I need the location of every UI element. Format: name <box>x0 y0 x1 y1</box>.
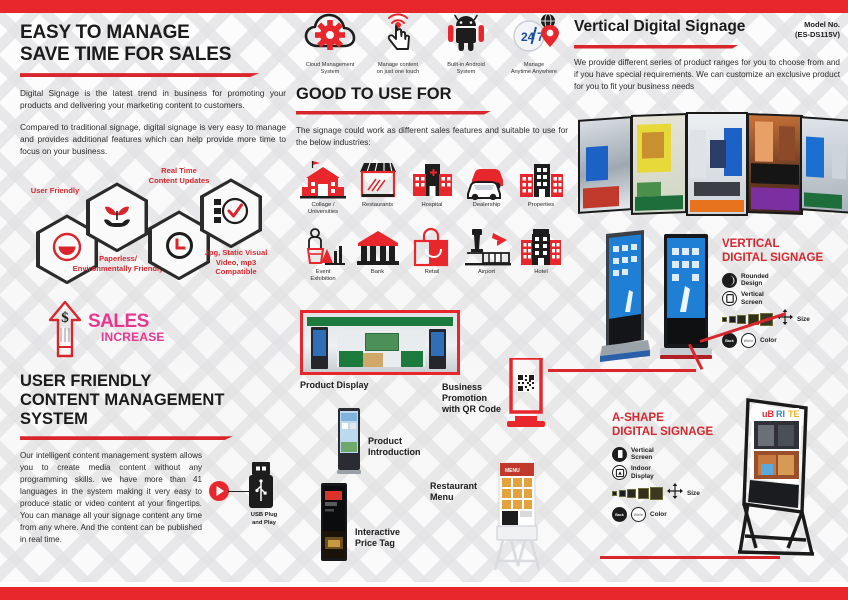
hexagon-feature-cluster: User Friendly <box>20 166 286 294</box>
feature-anytime-anywhere: 24 7 Manage Anytime Anywhere <box>504 12 564 77</box>
feature-android: Built-in Android System <box>436 12 496 77</box>
page-title: EASY TO MANAGE SAVE TIME FOR SALES <box>20 22 286 66</box>
ashape-spec-label-color: Color <box>650 511 667 519</box>
intro-paragraph-1: Digital Signage is the latest trend in b… <box>20 87 286 112</box>
product-display-photo <box>300 310 460 375</box>
usb-label: USB Plug and Play <box>242 512 286 527</box>
vertical-screen-icon <box>722 291 737 306</box>
vertical-kiosk-front <box>660 234 712 362</box>
industry-label-retail: Retail <box>407 269 457 276</box>
car-dealership-icon <box>462 158 512 200</box>
ashape-spec-label-size: Size <box>687 490 700 498</box>
industry-label-dealership: Dealership <box>462 202 512 209</box>
school-icon <box>298 158 348 200</box>
interactive-price-tag-kiosk <box>320 483 348 563</box>
caption-product-introduction: Product Introduction <box>368 436 421 458</box>
feature-label-cloud: Cloud Management System <box>300 62 360 77</box>
cms-paragraph: Our intelligent content management syste… <box>20 450 202 546</box>
industry-restaurants: Restaurants <box>353 158 403 216</box>
industry-bank: Bank <box>353 225 403 283</box>
vertical-signage-spec: VERTICAL DIGITAL SIGNAGE Rounded Design … <box>722 238 842 348</box>
feature-label-touch: Manage content on just one touch <box>368 62 428 77</box>
industry-college: Collage / Universities <box>298 158 348 216</box>
ashape-spec-title-line-2: DIGITAL SIGNAGE <box>612 426 732 440</box>
ashape-spec-size: Size <box>612 483 732 504</box>
vertical-spec-label-color: Color <box>760 337 777 345</box>
svg-text:MENU: MENU <box>505 468 520 474</box>
resize-arrows-icon <box>667 483 683 504</box>
cms-title-underline <box>20 436 233 440</box>
industry-label-event: Event Exhibition <box>298 269 348 283</box>
retail-display-gallery <box>578 112 840 216</box>
bank-icon <box>353 225 403 267</box>
rounded-design-icon <box>722 273 737 288</box>
feature-label-anytime: Manage Anytime Anywhere <box>504 62 564 77</box>
color-chip-white: White <box>741 333 756 348</box>
svg-text:$: $ <box>61 310 69 326</box>
vertical-signage-paragraph: We provide different series of product r… <box>574 57 840 93</box>
increase-word: INCREASE <box>88 331 165 344</box>
industry-label-restaurants: Restaurants <box>353 202 403 209</box>
caption-interactive-price-tag: Interactive Price Tag <box>355 527 400 549</box>
svg-text:RI: RI <box>776 409 785 419</box>
sales-increase-text: SALES INCREASE <box>88 312 165 344</box>
smile-icon <box>52 232 82 267</box>
intro-paragraph-2: Compared to traditional signage, digital… <box>20 121 286 158</box>
svg-text:TE: TE <box>788 409 800 419</box>
ashape-spec-color: Back White Color <box>612 507 732 522</box>
leaf-hands-icon <box>101 201 133 234</box>
bottom-red-bar <box>0 587 848 600</box>
feature-label-android: Built-in Android System <box>436 62 496 77</box>
industry-label-bank: Bank <box>353 269 403 276</box>
industry-properties: Properties <box>516 158 566 216</box>
ashape-spec-title-line-1: A-SHAPE <box>612 412 732 426</box>
vertical-spec-title-line-1: VERTICAL <box>722 238 842 252</box>
industry-dealership: Dealership <box>462 158 512 216</box>
industry-hospital: Hospital <box>407 158 457 216</box>
hex-label-user-friendly: User Friendly <box>26 186 84 195</box>
247-globe-pin-icon: 24 7 <box>504 12 564 59</box>
size-chips-icon <box>612 487 663 500</box>
vertical-signage-underline <box>574 45 739 49</box>
color-chip-black: Back <box>612 507 627 522</box>
industry-label-properties: Properties <box>516 202 566 209</box>
caption-product-display: Product Display <box>300 380 369 391</box>
vertical-spec-rounded-design: Rounded Design <box>722 273 842 288</box>
industry-label-college: Collage / Universities <box>298 202 348 216</box>
industry-retail: Retail <box>407 225 457 283</box>
feature-icon-row: Cloud Management System Manage content o… <box>296 12 568 77</box>
caption-business-promotion: Business Promotion with QR Code <box>442 382 501 414</box>
caption-restaurant-menu: Restaurant Menu <box>430 481 477 503</box>
cloud-gear-icon <box>300 12 360 59</box>
good-to-use-paragraph: The signage could work as different sale… <box>296 125 568 149</box>
restaurant-menu-aframe: MENU <box>485 462 551 572</box>
model-no-value: (ES-DS115V) <box>795 30 840 40</box>
clock-icon <box>166 232 193 259</box>
ashape-spec-label-vertical: Vertical Screen <box>631 447 654 462</box>
industry-label-hotel: Hotel <box>516 269 566 276</box>
industries-row-1: Collage / Universities Restaurants <box>296 158 568 216</box>
feature-one-touch: Manage content on just one touch <box>368 12 428 77</box>
sales-word: SALES <box>88 312 165 331</box>
hex-paperless <box>86 182 148 252</box>
center-column: Cloud Management System Manage content o… <box>296 12 568 284</box>
svg-text:uB: uB <box>762 409 774 419</box>
color-chip-white: White <box>631 507 646 522</box>
vertical-screen-icon <box>612 447 627 462</box>
cms-title-line-2: CONTENT MANAGEMENT <box>20 391 224 409</box>
vertical-signage-title: Vertical Digital Signage <box>574 18 745 35</box>
android-icon <box>436 12 496 59</box>
connector-line-left <box>548 369 696 372</box>
hospital-icon <box>407 158 457 200</box>
left-column: EASY TO MANAGE SAVE TIME FOR SALES Digit… <box>20 22 286 555</box>
ashape-product-photo: uB RI TE <box>718 388 830 556</box>
industry-airport: Airport <box>462 225 512 283</box>
right-column: Vertical Digital Signage Model No. (ES-D… <box>574 18 840 102</box>
industry-label-airport: Airport <box>462 269 512 276</box>
dollar-arrow-up-icon: $ <box>48 300 82 362</box>
airport-icon <box>462 225 512 267</box>
vertical-spec-label-rounded: Rounded Design <box>741 273 769 288</box>
play-button-icon <box>208 480 230 507</box>
vertical-spec-title-line-2: DIGITAL SIGNAGE <box>722 252 842 266</box>
industry-label-hospital: Hospital <box>407 202 457 209</box>
ashape-signage-spec: A-SHAPE DIGITAL SIGNAGE Vertical Screen … <box>612 412 732 522</box>
cms-title-line-1: USER FRIENDLY <box>20 372 151 390</box>
vertical-spec-label-size: Size <box>797 316 810 324</box>
ashape-spec-label-indoor: Indoor Display <box>631 465 654 480</box>
hex-formats <box>200 178 262 248</box>
industry-event: Event Exhibition <box>298 225 348 283</box>
vertical-spec-color: Back White Color <box>722 333 842 348</box>
industry-hotel: Hotel <box>516 225 566 283</box>
ashape-spec-indoor-display: Indoor Display <box>612 465 732 480</box>
vertical-kiosk-angled <box>596 228 652 363</box>
check-media-icon <box>213 197 249 230</box>
usb-icon <box>248 462 274 515</box>
restaurant-awning-icon <box>353 158 403 200</box>
usb-media-group: USB Plug and Play <box>208 450 286 555</box>
ashape-spec-vertical-screen: Vertical Screen <box>612 447 732 462</box>
feature-cloud-management: Cloud Management System <box>300 12 360 77</box>
vertical-spec-label-vertical: Vertical Screen <box>741 291 764 306</box>
touch-hand-icon <box>368 12 428 59</box>
brochure-page: EASY TO MANAGE SAVE TIME FOR SALES Digit… <box>0 0 848 600</box>
sales-increase-block: $ SALES INCREASE <box>20 300 286 372</box>
connector-line-bottom <box>600 556 780 559</box>
indoor-display-icon <box>612 465 627 480</box>
cms-title-line-3: SYSTEM <box>20 410 88 428</box>
product-introduction-kiosk <box>336 408 362 476</box>
title-underline <box>20 73 259 77</box>
event-podium-icon <box>298 225 348 267</box>
hotel-icon <box>516 225 566 267</box>
shopping-bag-icon <box>407 225 457 267</box>
office-buildings-icon <box>516 158 566 200</box>
model-no-label: Model No. <box>795 20 840 30</box>
usb-connector-line <box>228 491 250 492</box>
qr-code-stand <box>505 358 547 430</box>
cms-title: USER FRIENDLY CONTENT MANAGEMENT SYSTEM <box>20 372 286 429</box>
color-chip-black: Back <box>722 333 737 348</box>
hex-label-formats: Jpg, Static Visual Video, mp3 Compatible <box>196 248 276 276</box>
title-line-2: SAVE TIME FOR SALES <box>20 44 231 65</box>
vertical-spec-vertical-screen: Vertical Screen <box>722 291 842 306</box>
good-to-use-title: GOOD TO USE FOR <box>296 85 568 104</box>
good-to-use-underline <box>296 111 492 115</box>
industries-row-2: Event Exhibition Bank <box>296 225 568 283</box>
title-line-1: EASY TO MANAGE <box>20 22 190 43</box>
